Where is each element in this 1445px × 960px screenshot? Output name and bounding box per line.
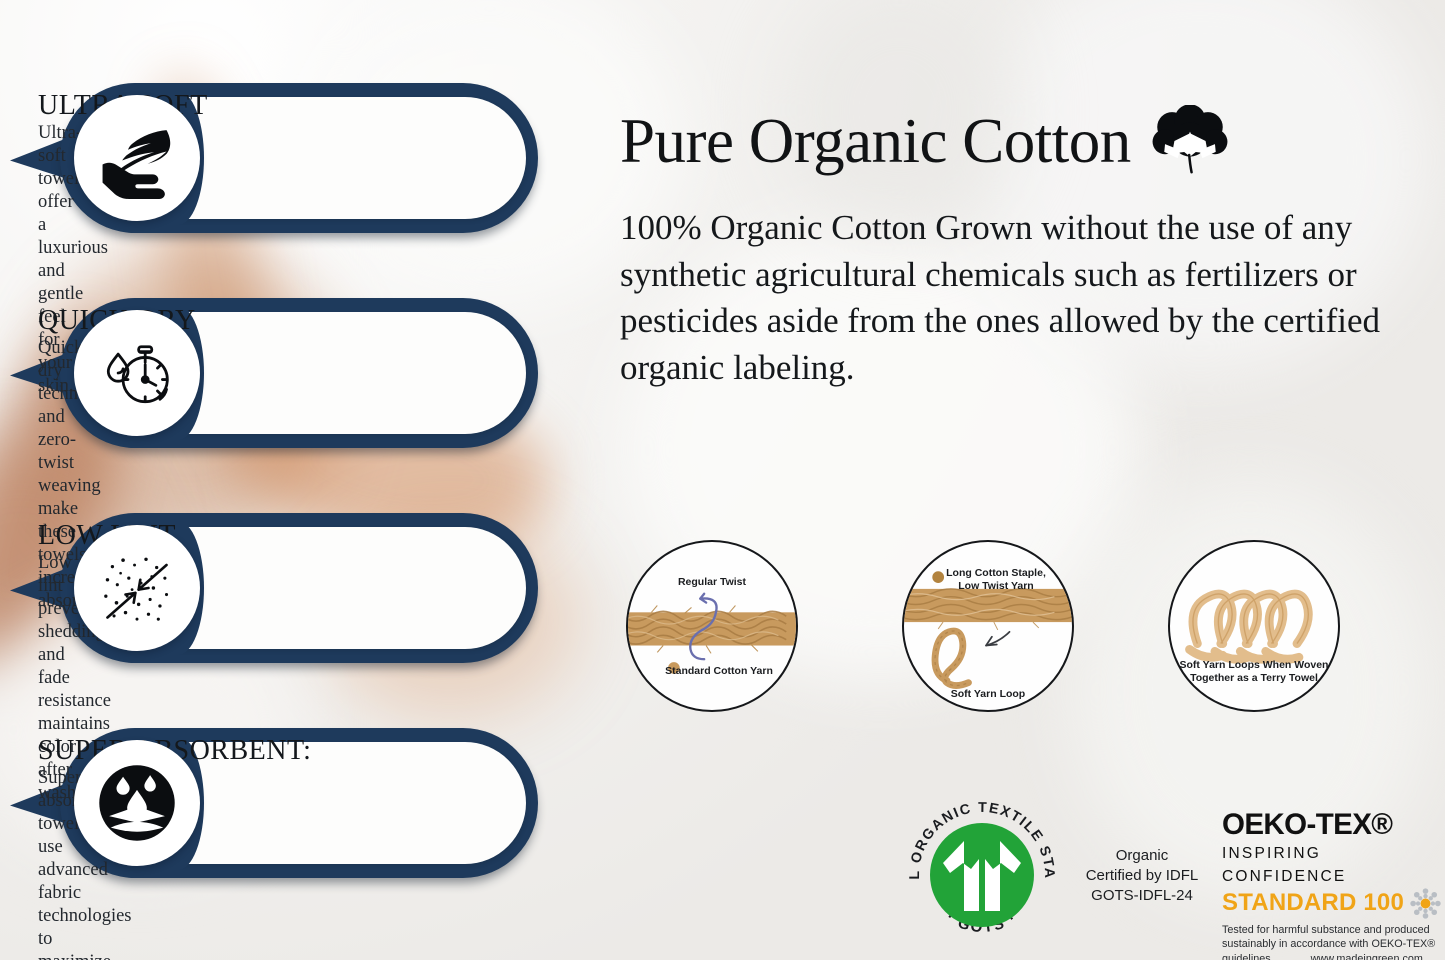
diagram-bottom-label: Standard Cotton Yarn [628, 665, 796, 678]
diagram-top-label: Long Cotton Staple, Low Twist Yarn [904, 567, 1072, 593]
gots-side-line3: GOTS-IDFL-24 [1067, 886, 1217, 906]
cotton-boll-icon [1151, 105, 1229, 177]
diagram-bottom-label-line1: Soft Yarn Loops When Woven [1180, 659, 1329, 671]
stopwatch-water-drop-icon [74, 310, 200, 436]
oeko-flower-icon [1409, 887, 1442, 920]
card-panel [178, 97, 526, 219]
diagram-top-label-line1: Long Cotton Staple, [946, 567, 1046, 579]
diagram-bottom-label-line2: Together as a Terry Towel [1190, 672, 1318, 684]
oeko-url: www.madeingreen.com [1311, 953, 1423, 960]
infographic-root: ULTRA SOFT Ultra-soft towels offer a lux… [0, 0, 1445, 960]
feature-card-list: ULTRA SOFT Ultra-soft towels offer a lux… [0, 0, 600, 960]
gots-certification-text: Organic Certified by IDFL GOTS-IDFL-24 [1067, 846, 1217, 906]
certification-group: GLOBAL ORGANIC TEXTILE STANDARD · GOTS · [612, 786, 1445, 960]
gots-shirt-arrows-icon [930, 823, 1034, 927]
card-panel [178, 312, 526, 434]
oeko-tex-logo: OEKO-TEX® INSPIRING CONFIDENCE STANDARD … [1222, 810, 1444, 960]
gots-green-disc [930, 823, 1034, 927]
diagram-low-twist-yarn: Long Cotton Staple, Low Twist Yarn Soft … [902, 540, 1074, 712]
oeko-fine-line3: guidelines. [1222, 953, 1274, 960]
yarn-diagram-group: Regular Twist Standard Cotton Yarn [612, 540, 1445, 720]
oeko-title: OEKO-TEX® [1222, 810, 1444, 840]
diagram-top-label-line2: Low Twist Yarn [958, 580, 1033, 592]
hero-body-text: 100% Organic Cotton Grown without the us… [620, 205, 1420, 391]
oeko-standard-row: STANDARD 100 [1222, 890, 1444, 920]
regular-twist-illustration [628, 542, 796, 710]
card-panel [178, 527, 526, 649]
diagram-terry-towel-loops: Soft Yarn Loops When Woven Together as a… [1168, 540, 1340, 712]
lint-particles-icon [74, 525, 200, 651]
diagram-bottom-label: Soft Yarn Loops When Woven Together as a… [1170, 659, 1338, 685]
gots-logo: GLOBAL ORGANIC TEXTILE STANDARD · GOTS · [907, 800, 1057, 950]
gots-side-line1: Organic [1067, 846, 1217, 866]
diagram-bottom-label: Soft Yarn Loop [904, 688, 1072, 701]
diagram-top-label: Regular Twist [628, 576, 796, 589]
water-absorption-icon [74, 740, 200, 866]
page-title: Pure Organic Cotton [620, 110, 1131, 173]
oeko-fine-print: Tested for harmful substance and produce… [1222, 923, 1444, 960]
gots-side-line2: Certified by IDFL [1067, 866, 1217, 886]
oeko-fine-line3-row: guidelines. www.madeingreen.com [1222, 952, 1444, 960]
oeko-fine-line1: Tested for harmful substance and produce… [1222, 923, 1444, 937]
oeko-subtitle: INSPIRING CONFIDENCE [1222, 842, 1444, 889]
right-column: Pure Organic Cotton 100% Organic Cotton … [612, 0, 1445, 960]
oeko-fine-line2: sustainably in accordance with OEKO-TEX® [1222, 937, 1444, 951]
headline-row: Pure Organic Cotton [620, 105, 1229, 177]
feather-in-hand-icon [74, 95, 200, 221]
diagram-regular-twist: Regular Twist Standard Cotton Yarn [626, 540, 798, 712]
